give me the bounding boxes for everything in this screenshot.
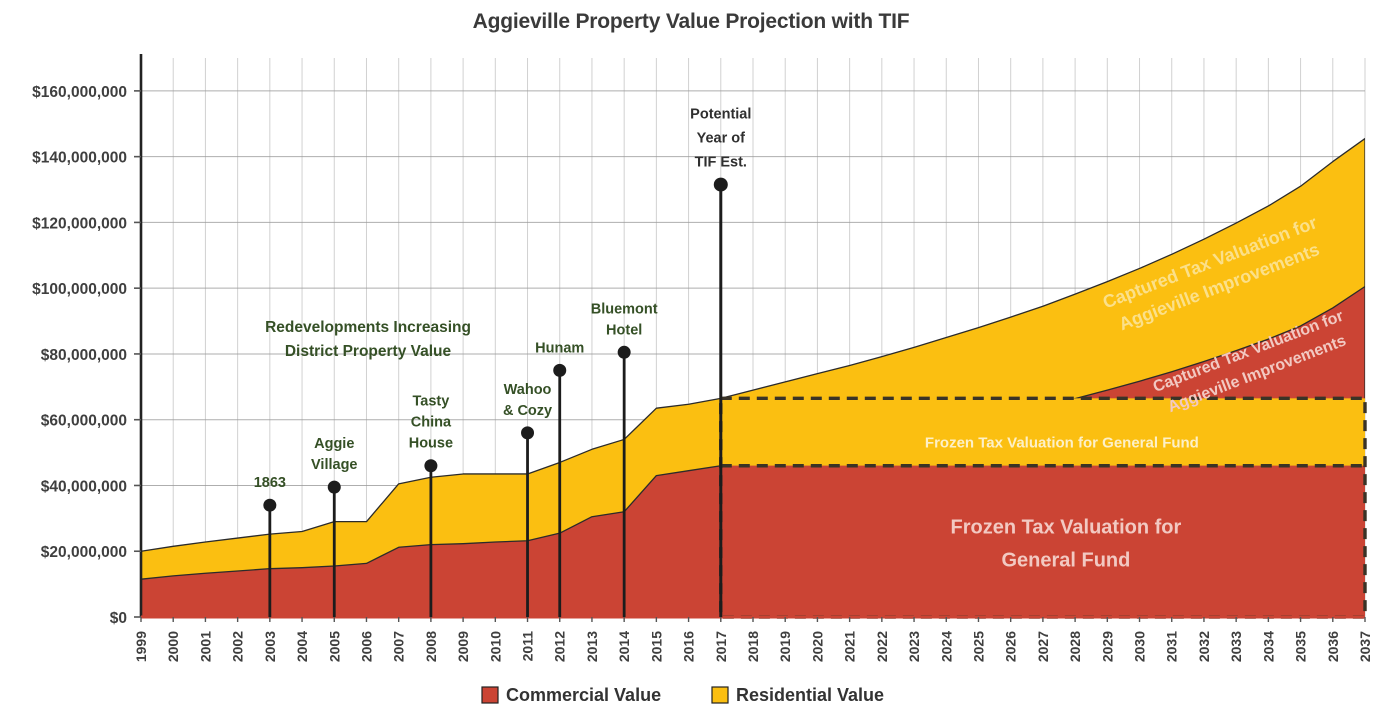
- x-tick-label: 2013: [584, 631, 600, 662]
- y-tick-label: $120,000,000: [32, 215, 127, 232]
- annotation-label-line: 1863: [254, 475, 286, 491]
- x-tick-label: 2031: [1164, 631, 1180, 662]
- x-tick-label: 2036: [1325, 631, 1341, 662]
- x-tick-label: 2029: [1099, 631, 1115, 662]
- legend-item-commercial-value[interactable]: Commercial Value: [482, 685, 661, 705]
- frozen-valuation-bands: [721, 398, 1365, 617]
- x-tick-label: 2012: [552, 631, 568, 662]
- y-tick-label: $0: [110, 610, 127, 627]
- frozen-commercial-band: [721, 466, 1365, 617]
- x-tick-label: 2019: [777, 631, 793, 662]
- annotation-label-line: China: [411, 415, 452, 431]
- x-tick-label: 2008: [423, 631, 439, 662]
- x-tick-label: 2003: [262, 631, 278, 662]
- x-tick-label: 2006: [358, 631, 374, 662]
- x-tick-label: 2000: [165, 631, 181, 662]
- x-tick-label: 2004: [294, 631, 310, 662]
- x-tick-label: 2001: [197, 631, 213, 662]
- annotation-label-line: Aggie: [314, 436, 354, 452]
- annotation-label-line: & Cozy: [503, 403, 552, 419]
- annotation-marker: [521, 426, 534, 439]
- headline-annotation: Redevelopments IncreasingDistrict Proper…: [265, 319, 471, 360]
- y-tick-label: $60,000,000: [41, 413, 127, 430]
- x-tick-label: 2016: [681, 631, 697, 662]
- y-axis-labels: $0$20,000,000$40,000,000$60,000,000$80,0…: [32, 84, 141, 627]
- y-tick-label: $80,000,000: [41, 347, 127, 364]
- x-tick-label: 1999: [133, 631, 149, 662]
- annotation-label-line: Hotel: [606, 322, 642, 338]
- x-tick-label: 2037: [1357, 631, 1373, 662]
- legend-item-residential-value[interactable]: Residential Value: [712, 685, 884, 705]
- annotation-marker: [714, 178, 728, 192]
- x-tick-label: 2027: [1035, 631, 1051, 662]
- svg-text:District Property Value: District Property Value: [285, 343, 452, 360]
- x-tick-label: 2034: [1260, 631, 1276, 662]
- x-tick-label: 2026: [1003, 631, 1019, 662]
- chart-root: Aggieville Property Value Projection wit…: [0, 0, 1382, 728]
- property-value-area-chart: Frozen Tax Valuation for General FundFro…: [0, 0, 1382, 728]
- x-tick-label: 2030: [1132, 631, 1148, 662]
- legend-label: Commercial Value: [506, 685, 661, 705]
- annotation-label-line: Hunam: [535, 340, 584, 356]
- y-tick-label: $140,000,000: [32, 150, 127, 167]
- annotation-label-line: Bluemont: [591, 301, 658, 317]
- frozen-residential-band: [721, 398, 1365, 465]
- x-tick-label: 2020: [809, 631, 825, 662]
- legend-swatch: [482, 687, 498, 703]
- x-tick-label: 2022: [874, 631, 890, 662]
- x-tick-label: 2033: [1228, 631, 1244, 662]
- x-axis-labels: 1999200020012002200320042005200620072008…: [133, 617, 1373, 662]
- svg-text:General Fund: General Fund: [1001, 549, 1130, 571]
- annotation-label-line: Wahoo: [504, 382, 552, 398]
- x-tick-label: 2017: [713, 631, 729, 662]
- y-tick-label: $20,000,000: [41, 544, 127, 561]
- annotation-marker: [328, 481, 341, 494]
- x-tick-label: 2011: [520, 631, 536, 662]
- annotation-marker: [553, 364, 566, 377]
- y-tick-label: $40,000,000: [41, 478, 127, 495]
- x-tick-label: 2007: [391, 631, 407, 662]
- legend-label: Residential Value: [736, 685, 884, 705]
- annotation-label-line: Village: [311, 457, 357, 473]
- svg-text:Redevelopments Increasing: Redevelopments Increasing: [265, 319, 471, 336]
- annotation-label-line: House: [409, 436, 453, 452]
- legend: Commercial ValueResidential Value: [482, 685, 884, 705]
- x-tick-label: 2015: [648, 631, 664, 662]
- x-tick-label: 2028: [1067, 631, 1083, 662]
- annotation-label-line: Tasty: [412, 394, 449, 410]
- annotation-marker: [424, 459, 437, 472]
- x-tick-label: 2032: [1196, 631, 1212, 662]
- x-tick-label: 2021: [842, 631, 858, 662]
- x-tick-label: 2024: [938, 631, 954, 662]
- x-tick-label: 2005: [326, 631, 342, 662]
- frozen-residential-label: Frozen Tax Valuation for General Fund: [925, 435, 1199, 452]
- x-tick-label: 2014: [616, 631, 632, 662]
- x-tick-label: 2023: [906, 631, 922, 662]
- annotation-label-line: Potential: [690, 107, 751, 123]
- annotation-label-line: TIF Est.: [695, 155, 747, 171]
- x-tick-label: 2025: [970, 631, 986, 662]
- annotation-label-line: Year of: [697, 131, 746, 147]
- x-tick-label: 2035: [1293, 631, 1309, 662]
- annotation-marker: [618, 346, 631, 359]
- y-tick-label: $100,000,000: [32, 281, 127, 298]
- x-tick-label: 2002: [230, 631, 246, 662]
- legend-swatch: [712, 687, 728, 703]
- svg-text:Frozen Tax Valuation for: Frozen Tax Valuation for: [951, 516, 1182, 538]
- x-tick-label: 2009: [455, 631, 471, 662]
- y-tick-label: $160,000,000: [32, 84, 127, 101]
- x-tick-label: 2018: [745, 631, 761, 662]
- annotation-marker: [263, 499, 276, 512]
- x-tick-label: 2010: [487, 631, 503, 662]
